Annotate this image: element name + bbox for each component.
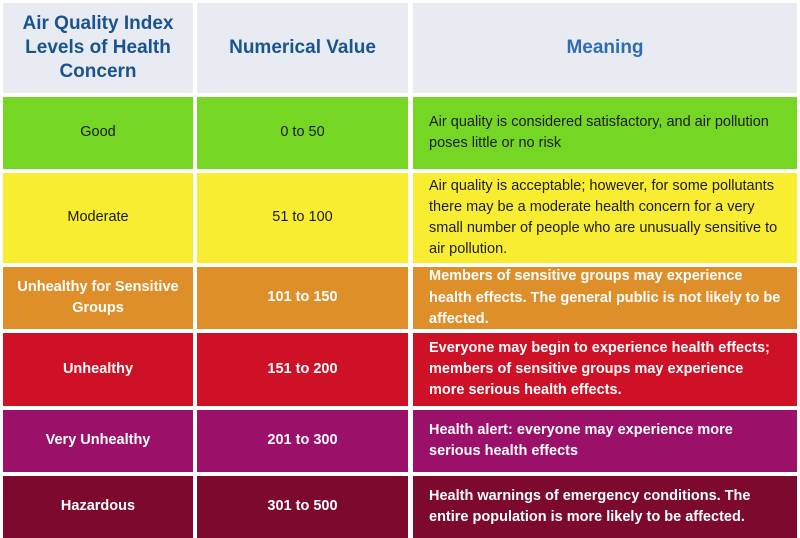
cell-meaning-unhealthy: Everyone may begin to experience health …: [413, 333, 797, 406]
cell-value-good: 0 to 50: [197, 97, 408, 169]
value-label-moderate: 51 to 100: [272, 207, 332, 228]
table-row-hazardous: Hazardous 301 to 500 Health warnings of …: [3, 476, 797, 538]
cell-value-hazardous: 301 to 500: [197, 476, 408, 538]
cell-meaning-very-unhealthy: Health alert: everyone may experience mo…: [413, 410, 797, 472]
cell-category-very-unhealthy: Very Unhealthy: [3, 410, 193, 472]
cell-meaning-unhealthy-sensitive-groups: Members of sensitive groups may experien…: [413, 267, 797, 329]
category-label-good: Good: [80, 122, 115, 143]
value-label-good: 0 to 50: [280, 122, 324, 143]
cell-meaning-good: Air quality is considered satisfactory, …: [413, 97, 797, 169]
column-header-meaning: Meaning: [413, 3, 797, 93]
value-label-hazardous: 301 to 500: [267, 496, 337, 517]
table-row-unhealthy: Unhealthy 151 to 200 Everyone may begin …: [3, 333, 797, 406]
cell-meaning-hazardous: Health warnings of emergency conditions.…: [413, 476, 797, 538]
value-label-unhealthy-sensitive-groups: 101 to 150: [267, 287, 337, 308]
cell-category-hazardous: Hazardous: [3, 476, 193, 538]
column-header-numerical-value-label: Numerical Value: [229, 36, 376, 60]
column-header-meaning-label: Meaning: [566, 36, 643, 60]
category-label-moderate: Moderate: [67, 207, 128, 228]
cell-meaning-moderate: Air quality is acceptable; however, for …: [413, 173, 797, 263]
cell-category-unhealthy-sensitive-groups: Unhealthy for Sensitive Groups: [3, 267, 193, 329]
meaning-text-hazardous: Health warnings of emergency conditions.…: [429, 486, 781, 528]
category-label-very-unhealthy: Very Unhealthy: [46, 430, 151, 451]
column-header-category-label: Air Quality Index Levels of Health Conce…: [11, 12, 185, 83]
category-label-unhealthy: Unhealthy: [63, 359, 133, 380]
cell-value-very-unhealthy: 201 to 300: [197, 410, 408, 472]
meaning-text-very-unhealthy: Health alert: everyone may experience mo…: [429, 420, 781, 462]
cell-value-unhealthy: 151 to 200: [197, 333, 408, 406]
meaning-text-good: Air quality is considered satisfactory, …: [429, 112, 781, 154]
table-row-good: Good 0 to 50 Air quality is considered s…: [3, 97, 797, 169]
column-header-numerical-value: Numerical Value: [197, 3, 408, 93]
meaning-text-unhealthy-sensitive-groups: Members of sensitive groups may experien…: [429, 267, 781, 329]
cell-category-good: Good: [3, 97, 193, 169]
air-quality-index-table: Air Quality Index Levels of Health Conce…: [0, 0, 800, 521]
table-row-unhealthy-sensitive-groups: Unhealthy for Sensitive Groups 101 to 15…: [3, 267, 797, 329]
cell-value-unhealthy-sensitive-groups: 101 to 150: [197, 267, 408, 329]
table-row-very-unhealthy: Very Unhealthy 201 to 300 Health alert: …: [3, 410, 797, 472]
meaning-text-unhealthy: Everyone may begin to experience health …: [429, 338, 781, 401]
cell-value-moderate: 51 to 100: [197, 173, 408, 263]
column-header-category: Air Quality Index Levels of Health Conce…: [3, 3, 193, 93]
value-label-unhealthy: 151 to 200: [267, 359, 337, 380]
value-label-very-unhealthy: 201 to 300: [267, 430, 337, 451]
cell-category-unhealthy: Unhealthy: [3, 333, 193, 406]
category-label-hazardous: Hazardous: [61, 496, 135, 517]
table-row-moderate: Moderate 51 to 100 Air quality is accept…: [3, 173, 797, 263]
meaning-text-moderate: Air quality is acceptable; however, for …: [429, 176, 781, 260]
table-header-row: Air Quality Index Levels of Health Conce…: [3, 3, 797, 93]
cell-category-moderate: Moderate: [3, 173, 193, 263]
category-label-unhealthy-sensitive-groups: Unhealthy for Sensitive Groups: [13, 277, 183, 319]
